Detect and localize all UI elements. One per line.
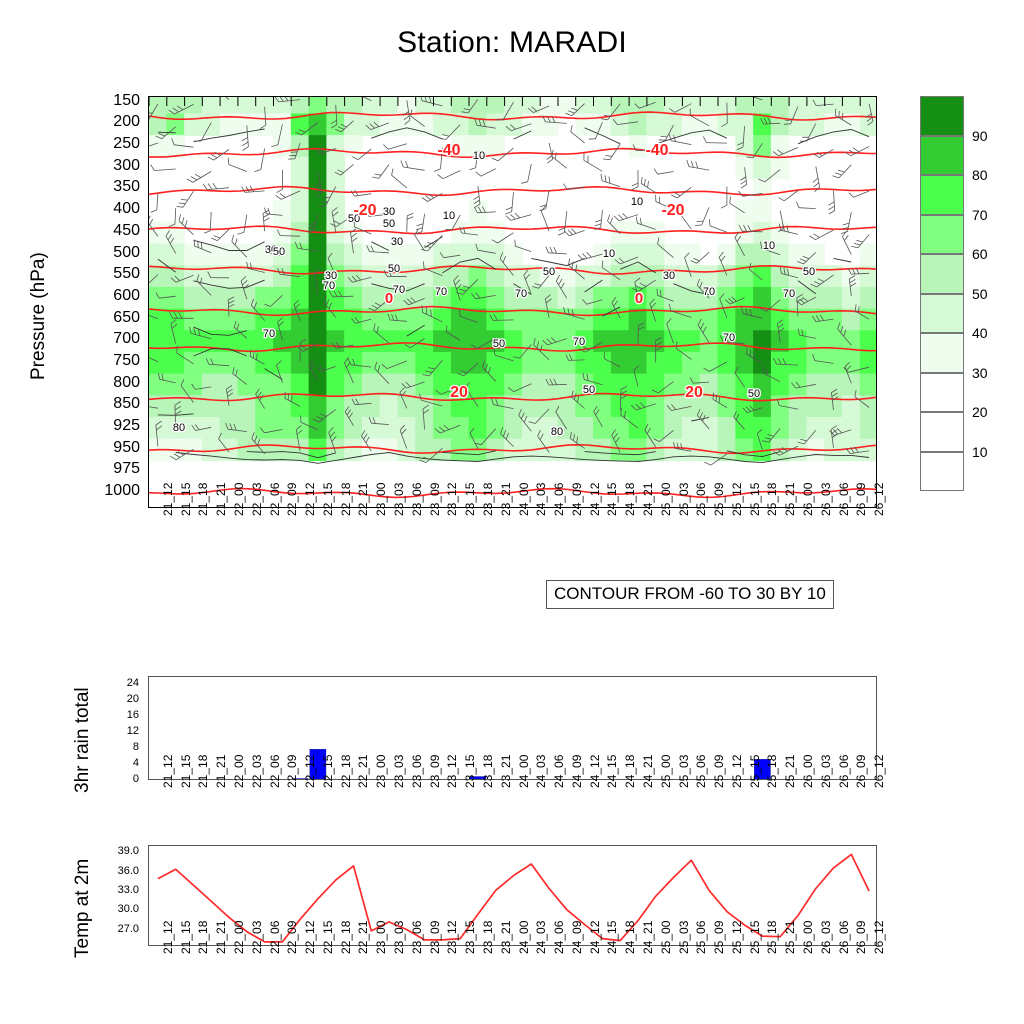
xaxis-tick-label: 25_12	[731, 483, 743, 516]
xaxis-tick-label: 24_12	[589, 483, 601, 516]
colorbar-band	[920, 294, 964, 334]
xaxis-tick-label: 22_21	[357, 755, 369, 788]
xaxis-tick-label: 24_00	[518, 483, 530, 516]
svg-text:70: 70	[703, 286, 715, 298]
xaxis-tick-label: 24_09	[571, 921, 583, 954]
xaxis-tick-label: 26_00	[802, 483, 814, 516]
xaxis-tick-label: 23_06	[411, 483, 423, 516]
xaxis-tick-label: 24_15	[606, 755, 618, 788]
xaxis-tick-label: 22_00	[233, 755, 245, 788]
xaxis-tick-label: 21_15	[180, 921, 192, 954]
xaxis-tick-label: 22_21	[357, 483, 369, 516]
svg-text:50: 50	[543, 266, 555, 278]
xaxis-tick-label: 23_18	[482, 483, 494, 516]
colorbar-tick-label: 10	[972, 444, 988, 460]
xaxis-tick-label: 23_15	[464, 755, 476, 788]
contour-canvas: 50305030-40-4010-20-20101030301010505050…	[149, 97, 877, 508]
yaxis-tick-label: 300	[113, 158, 140, 174]
svg-text:70: 70	[783, 288, 795, 300]
xaxis-tick-label: 25_03	[678, 921, 690, 954]
yaxis-tick-label: 925	[113, 418, 140, 434]
xaxis-tick-label: 24_09	[571, 483, 583, 516]
xaxis-tick-label: 25_21	[784, 755, 796, 788]
xaxis-tick-label: 25_21	[784, 921, 796, 954]
xaxis-tick-label: 22_12	[304, 755, 316, 788]
yaxis-tick-label: 400	[113, 201, 140, 217]
xaxis-tick-label: 24_06	[553, 921, 565, 954]
colorbar-band	[920, 175, 964, 215]
xaxis-tick-label: 25_03	[678, 755, 690, 788]
xaxis-tick-label: 24_18	[624, 921, 636, 954]
colorbar-band	[920, 333, 964, 373]
yaxis-tick-label: 975	[113, 461, 140, 477]
yaxis-tick-label: 850	[113, 396, 140, 412]
xaxis-tick-label: 23_12	[446, 921, 458, 954]
xaxis-tick-label: 23_09	[429, 921, 441, 954]
xaxis-tick-label: 23_00	[375, 921, 387, 954]
colorbar-band	[920, 215, 964, 255]
xaxis-tick-label: 22_06	[269, 921, 281, 954]
colorbar-band	[920, 452, 964, 492]
yaxis-tick-label: 700	[113, 331, 140, 347]
yaxis-tick-label: 27.0	[118, 924, 139, 935]
svg-text:70: 70	[323, 280, 335, 292]
xaxis-tick-label: 25_03	[678, 483, 690, 516]
svg-text:50: 50	[493, 338, 505, 350]
xaxis-tick-label: 21_21	[215, 755, 227, 788]
xaxis-tick-label: 22_06	[269, 483, 281, 516]
xaxis-tick-label: 23_06	[411, 921, 423, 954]
colorbar-tick-label: 70	[972, 207, 988, 223]
svg-text:50: 50	[383, 218, 395, 230]
svg-text:-20: -20	[661, 202, 684, 219]
colorbar-band	[920, 412, 964, 452]
xaxis-tick-label: 23_12	[446, 483, 458, 516]
xaxis-tick-label: 24_06	[553, 755, 565, 788]
colorbar-band	[920, 254, 964, 294]
colorbar-band	[920, 96, 964, 136]
xaxis-tick-label: 21_15	[180, 755, 192, 788]
xaxis-tick-label: 26_03	[820, 483, 832, 516]
xaxis-tick-label: 24_09	[571, 755, 583, 788]
xaxis-tick-label: 25_06	[695, 483, 707, 516]
xaxis-tick-label: 26_06	[838, 755, 850, 788]
xaxis-tick-label: 22_21	[357, 921, 369, 954]
main-yaxis-title: Pressure (hPa)	[28, 252, 50, 380]
svg-text:10: 10	[443, 210, 455, 222]
colorbar-tick-label: 50	[972, 286, 988, 302]
svg-text:10: 10	[603, 248, 615, 260]
contour-range-note: CONTOUR FROM -60 TO 30 BY 10	[546, 580, 834, 609]
xaxis-tick-label: 21_18	[197, 483, 209, 516]
colorbar-band	[920, 136, 964, 176]
svg-text:50: 50	[388, 263, 400, 275]
svg-text:-40: -40	[437, 142, 460, 159]
xaxis-tick-label: 23_21	[500, 483, 512, 516]
colorbar-tick-label: 30	[972, 365, 988, 381]
svg-text:30: 30	[383, 206, 395, 218]
page-title: Station: MARADI	[0, 26, 1024, 60]
xaxis-tick-label: 25_00	[660, 483, 672, 516]
xaxis-tick-label: 26_12	[873, 921, 885, 954]
xaxis-tick-label: 22_09	[286, 755, 298, 788]
xaxis-tick-label: 21_21	[215, 921, 227, 954]
xaxis-tick-label: 23_09	[429, 755, 441, 788]
yaxis-tick-label: 20	[127, 694, 139, 705]
xaxis-tick-label: 23_03	[393, 755, 405, 788]
svg-text:-40: -40	[645, 142, 668, 159]
svg-text:20: 20	[685, 384, 703, 401]
colorbar-band	[920, 373, 964, 413]
yaxis-tick-label: 0	[133, 774, 139, 785]
xaxis-tick-label: 23_21	[500, 921, 512, 954]
svg-text:10: 10	[473, 150, 485, 162]
yaxis-tick-label: 600	[113, 288, 140, 304]
yaxis-tick-label: 650	[113, 310, 140, 326]
svg-text:50: 50	[803, 266, 815, 278]
yaxis-tick-label: 16	[127, 710, 139, 721]
xaxis-tick-label: 25_12	[731, 921, 743, 954]
xaxis-tick-label: 26_09	[855, 755, 867, 788]
yaxis-tick-label: 550	[113, 266, 140, 282]
xaxis-tick-label: 22_00	[233, 483, 245, 516]
xaxis-tick-label: 22_18	[340, 483, 352, 516]
xaxis-tick-label: 23_03	[393, 921, 405, 954]
xaxis-tick-label: 22_00	[233, 921, 245, 954]
xaxis-tick-label: 22_15	[322, 755, 334, 788]
sounding-contour-plot[interactable]: 50305030-40-4010-20-20101030301010505050…	[148, 96, 877, 508]
xaxis-tick-label: 26_03	[820, 921, 832, 954]
xaxis-tick-label: 24_03	[535, 921, 547, 954]
colorbar-tick-label: 60	[972, 246, 988, 262]
xaxis-tick-label: 21_12	[162, 755, 174, 788]
xaxis-tick-label: 22_18	[340, 921, 352, 954]
xaxis-tick-label: 26_00	[802, 755, 814, 788]
yaxis-tick-label: 4	[133, 758, 139, 769]
xaxis-tick-label: 22_15	[322, 483, 334, 516]
yaxis-tick-label: 200	[113, 114, 140, 130]
xaxis-tick-label: 22_06	[269, 755, 281, 788]
xaxis-tick-label: 26_03	[820, 755, 832, 788]
xaxis-tick-label: 23_21	[500, 755, 512, 788]
rain-yaxis-title: 3hr rain total	[72, 687, 94, 793]
xaxis-tick-label: 24_03	[535, 755, 547, 788]
xaxis-tick-label: 22_12	[304, 483, 316, 516]
xaxis-tick-label: 22_09	[286, 921, 298, 954]
xaxis-tick-label: 25_00	[660, 921, 672, 954]
xaxis-tick-label: 25_18	[766, 483, 778, 516]
xaxis-tick-label: 23_15	[464, 921, 476, 954]
yaxis-tick-label: 250	[113, 136, 140, 152]
xaxis-tick-label: 23_18	[482, 921, 494, 954]
colorbar-tick-label: 20	[972, 404, 988, 420]
yaxis-tick-label: 150	[113, 93, 140, 109]
xaxis-tick-label: 23_18	[482, 755, 494, 788]
xaxis-tick-label: 25_15	[749, 483, 761, 516]
xaxis-tick-label: 22_15	[322, 921, 334, 954]
xaxis-tick-label: 23_09	[429, 483, 441, 516]
xaxis-tick-label: 21_18	[197, 921, 209, 954]
xaxis-tick-label: 25_18	[766, 755, 778, 788]
svg-text:0: 0	[635, 290, 643, 307]
xaxis-tick-label: 25_09	[713, 921, 725, 954]
xaxis-tick-label: 26_12	[873, 483, 885, 516]
yaxis-tick-label: 12	[127, 726, 139, 737]
xaxis-tick-label: 22_03	[251, 755, 263, 788]
xaxis-tick-label: 24_03	[535, 483, 547, 516]
xaxis-tick-label: 24_18	[624, 755, 636, 788]
xaxis-tick-label: 24_12	[589, 921, 601, 954]
xaxis-tick-label: 26_09	[855, 921, 867, 954]
svg-text:70: 70	[723, 332, 735, 344]
xaxis-tick-label: 21_18	[197, 755, 209, 788]
svg-text:30: 30	[663, 270, 675, 282]
xaxis-tick-label: 25_09	[713, 483, 725, 516]
colorbar-tick-label: 80	[972, 167, 988, 183]
xaxis-tick-label: 24_21	[642, 483, 654, 516]
xaxis-tick-label: 25_21	[784, 483, 796, 516]
xaxis-tick-label: 24_12	[589, 755, 601, 788]
svg-text:30: 30	[391, 236, 403, 248]
xaxis-tick-label: 23_12	[446, 755, 458, 788]
yaxis-tick-label: 36.0	[118, 866, 139, 877]
xaxis-tick-label: 22_12	[304, 921, 316, 954]
svg-text:70: 70	[435, 286, 447, 298]
yaxis-tick-label: 500	[113, 245, 140, 261]
xaxis-tick-label: 21_12	[162, 921, 174, 954]
xaxis-tick-label: 24_15	[606, 483, 618, 516]
svg-text:80: 80	[173, 422, 185, 434]
svg-text:10: 10	[763, 240, 775, 252]
xaxis-tick-label: 24_21	[642, 921, 654, 954]
yaxis-tick-label: 1000	[104, 483, 140, 499]
colorbar	[920, 96, 964, 491]
temp-yaxis-title: Temp at 2m	[72, 858, 94, 957]
xaxis-tick-label: 22_09	[286, 483, 298, 516]
svg-text:80: 80	[551, 426, 563, 438]
xaxis-tick-label: 25_15	[749, 921, 761, 954]
yaxis-tick-label: 350	[113, 179, 140, 195]
xaxis-tick-label: 25_09	[713, 755, 725, 788]
xaxis-tick-label: 24_15	[606, 921, 618, 954]
xaxis-tick-label: 22_03	[251, 921, 263, 954]
yaxis-tick-label: 750	[113, 353, 140, 369]
svg-text:70: 70	[573, 336, 585, 348]
svg-text:70: 70	[263, 328, 275, 340]
yaxis-tick-label: 800	[113, 375, 140, 391]
colorbar-tick-label: 40	[972, 325, 988, 341]
xaxis-tick-label: 21_15	[180, 483, 192, 516]
xaxis-tick-label: 25_15	[749, 755, 761, 788]
xaxis-tick-label: 24_00	[518, 921, 530, 954]
xaxis-tick-label: 25_06	[695, 755, 707, 788]
xaxis-tick-label: 23_03	[393, 483, 405, 516]
xaxis-tick-label: 21_21	[215, 483, 227, 516]
svg-text:50: 50	[273, 246, 285, 258]
xaxis-tick-label: 26_06	[838, 921, 850, 954]
xaxis-tick-label: 22_03	[251, 483, 263, 516]
xaxis-tick-label: 24_06	[553, 483, 565, 516]
xaxis-tick-label: 26_06	[838, 483, 850, 516]
svg-text:-20: -20	[353, 202, 376, 219]
xaxis-tick-label: 24_21	[642, 755, 654, 788]
yaxis-tick-label: 39.0	[118, 846, 139, 857]
chart-page: Station: MARADI Pressure (hPa) 150200250…	[0, 0, 1024, 1024]
xaxis-tick-label: 23_00	[375, 755, 387, 788]
yaxis-tick-label: 30.0	[118, 904, 139, 915]
svg-text:20: 20	[450, 384, 468, 401]
svg-text:70: 70	[515, 288, 527, 300]
svg-text:0: 0	[385, 290, 393, 307]
yaxis-tick-label: 24	[127, 678, 139, 689]
xaxis-tick-label: 25_12	[731, 755, 743, 788]
svg-text:50: 50	[748, 388, 760, 400]
xaxis-tick-label: 25_06	[695, 921, 707, 954]
xaxis-tick-label: 23_06	[411, 755, 423, 788]
xaxis-tick-label: 24_18	[624, 483, 636, 516]
svg-text:70: 70	[393, 284, 405, 296]
colorbar-tick-label: 90	[972, 128, 988, 144]
yaxis-tick-label: 450	[113, 223, 140, 239]
xaxis-tick-label: 26_09	[855, 483, 867, 516]
xaxis-tick-label: 23_15	[464, 483, 476, 516]
yaxis-tick-label: 33.0	[118, 885, 139, 896]
xaxis-tick-label: 22_18	[340, 755, 352, 788]
xaxis-tick-label: 21_12	[162, 483, 174, 516]
svg-text:10: 10	[631, 196, 643, 208]
yaxis-tick-label: 8	[133, 742, 139, 753]
xaxis-tick-label: 25_18	[766, 921, 778, 954]
xaxis-tick-label: 26_12	[873, 755, 885, 788]
xaxis-tick-label: 23_00	[375, 483, 387, 516]
svg-text:50: 50	[583, 384, 595, 396]
yaxis-tick-label: 950	[113, 440, 140, 456]
xaxis-tick-label: 24_00	[518, 755, 530, 788]
xaxis-tick-label: 25_00	[660, 755, 672, 788]
xaxis-tick-label: 26_00	[802, 921, 814, 954]
